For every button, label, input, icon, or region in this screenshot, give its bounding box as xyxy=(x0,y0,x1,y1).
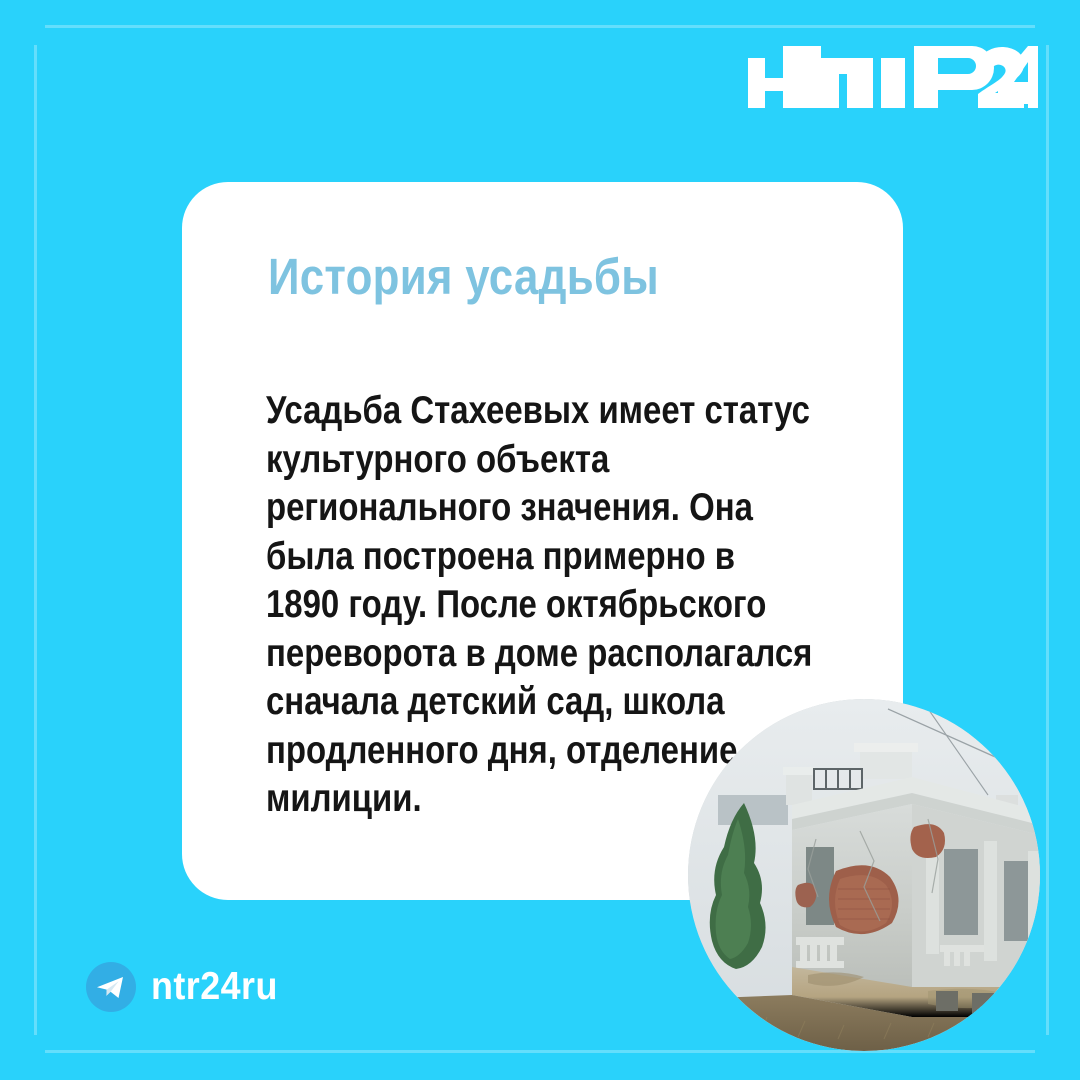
ntr24-logo xyxy=(748,46,1038,108)
telegram-handle-label: ntr24ru xyxy=(151,965,278,1009)
telegram-handle[interactable]: ntr24ru xyxy=(86,962,289,1012)
frame-line-left xyxy=(34,45,37,1035)
mansion-photo xyxy=(688,699,1040,1051)
poster-root: История усадьбы Усадьба Стахеевых имеет … xyxy=(0,0,1080,1080)
frame-line-bottom xyxy=(45,1050,1035,1053)
page-title: История усадьбы xyxy=(268,250,659,304)
frame-line-right xyxy=(1046,45,1049,1035)
frame-line-top xyxy=(45,25,1035,28)
telegram-icon[interactable] xyxy=(86,962,136,1012)
